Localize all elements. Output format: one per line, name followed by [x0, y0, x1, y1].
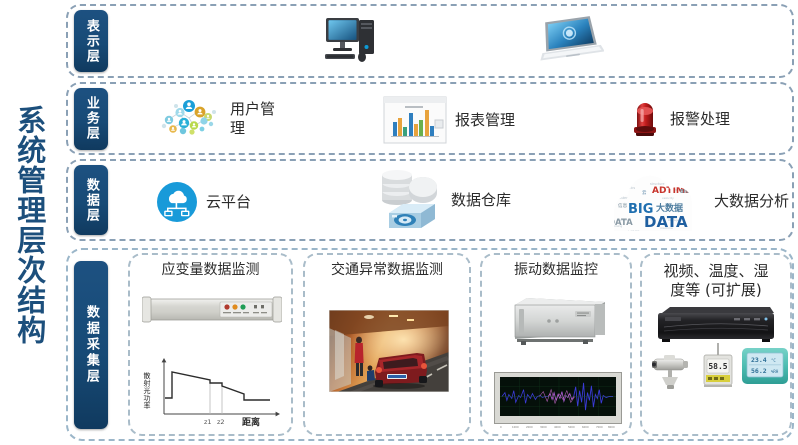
- svg-text:4000: 4000: [554, 425, 561, 429]
- svg-text:DATA: DATA: [608, 218, 633, 228]
- humidity-display-icon: 23.4 °C 56.2 %RH: [740, 345, 790, 387]
- svg-text:cluster: cluster: [616, 196, 628, 200]
- svg-text:DATA: DATA: [644, 213, 688, 231]
- svg-text:56.2: 56.2: [751, 367, 767, 375]
- svg-text:%RH: %RH: [771, 369, 779, 374]
- data-item-big-data-analysis[interactable]: analytics structure volume cluster veloc…: [598, 163, 789, 239]
- acquisition-card-vibration-title: 振动数据监控: [482, 262, 630, 280]
- layer-tag-data-label: 数据层: [83, 178, 99, 223]
- acquisition-card-strain[interactable]: 应变量数据监测: [128, 253, 293, 436]
- svg-text:7000: 7000: [596, 425, 603, 429]
- chart-xtick-z2: z2: [217, 418, 225, 426]
- layer-business: 业务层: [66, 82, 794, 155]
- svg-text:5000: 5000: [568, 425, 575, 429]
- acquisition-card-video-env[interactable]: 视频、温度、湿度等 (可扩展): [640, 253, 792, 436]
- vibration-waveform-display: [494, 372, 622, 424]
- layer-tag-presentation: 表示层: [74, 10, 108, 72]
- layer-tag-business: 业务层: [74, 88, 108, 150]
- layer-tag-data: 数据层: [74, 165, 108, 235]
- svg-text:°C: °C: [771, 358, 776, 363]
- scattered-light-power-chart: 散射光功率 z1 z2 距离: [138, 356, 288, 428]
- dvr-recorder-icon: [656, 305, 776, 345]
- cctv-camera-icon: [650, 351, 694, 391]
- laptop-computer-icon: [538, 14, 604, 68]
- cloud-platform-icon: [156, 181, 198, 223]
- svg-text:实时计算: 实时计算: [648, 231, 668, 238]
- svg-text:23.4: 23.4: [751, 356, 767, 364]
- layer-tag-business-label: 业务层: [83, 96, 99, 141]
- data-item-data-warehouse-label: 数据仓库: [451, 191, 511, 210]
- data-items: 云平台: [108, 161, 792, 239]
- layer-tag-acquisition-label: 数据采集层: [83, 305, 99, 385]
- desktop-computer-icon: [323, 14, 385, 68]
- layer-tag-acquisition: 数据采集层: [74, 261, 108, 429]
- alarm-beacon-icon: [628, 96, 662, 142]
- chart-ylabel: 散射光功率: [143, 371, 151, 410]
- system-architecture-diagram: 系统管理层次结构 表示层: [0, 0, 798, 445]
- layer-presentation: 表示层: [66, 4, 794, 78]
- vibration-acquisition-unit-icon: [505, 295, 609, 345]
- svg-text:velocity: velocity: [662, 196, 674, 200]
- svg-text:1000: 1000: [512, 425, 519, 429]
- business-item-user-management[interactable]: 用户管理: [156, 98, 275, 140]
- acquisition-card-traffic-title: 交通异常数据监测: [305, 262, 469, 280]
- svg-text:信息: 信息: [618, 202, 628, 209]
- temperature-sensor-icon: 58.5: [698, 341, 738, 391]
- svg-text:8000: 8000: [608, 425, 615, 429]
- data-item-big-data-analysis-label: 大数据分析: [714, 192, 789, 211]
- waveform-axis-labels: 010002000 300040005000 600070008000: [494, 423, 622, 430]
- business-item-report-management-label: 报表管理: [455, 111, 515, 130]
- chart-xlabel: 距离: [242, 416, 260, 428]
- tunnel-incident-photo: [329, 310, 449, 392]
- svg-text:6000: 6000: [582, 425, 589, 429]
- diagram-vertical-title-text: 系统管理层次结构: [14, 105, 44, 345]
- diagram-vertical-title: 系统管理层次结构: [2, 40, 56, 410]
- svg-text:BIG: BIG: [680, 189, 690, 195]
- rack-mount-analyzer-icon: [142, 291, 282, 329]
- data-item-cloud-platform[interactable]: 云平台: [156, 181, 251, 223]
- svg-text:58.5: 58.5: [708, 362, 727, 371]
- chart-xtick-z1: z1: [204, 418, 212, 426]
- business-item-user-management-label: 用户管理: [230, 100, 275, 138]
- presentation-item-laptop: [538, 14, 604, 68]
- svg-text:云: 云: [642, 190, 647, 196]
- svg-text:0: 0: [500, 425, 502, 429]
- svg-text:3000: 3000: [540, 425, 547, 429]
- bar-chart-report-icon: [383, 96, 447, 144]
- business-item-alarm-handling-label: 报警处理: [670, 110, 730, 129]
- business-item-alarm-handling[interactable]: 报警处理: [628, 96, 730, 142]
- acquisition-card-video-env-title: 视频、温度、湿度等 (可扩展): [642, 262, 790, 300]
- database-warehouse-icon: [373, 165, 443, 235]
- presentation-item-desktop: [323, 14, 385, 68]
- user-network-icon: [156, 98, 222, 140]
- svg-text:2000: 2000: [526, 425, 533, 429]
- acquisition-card-strain-title: 应变量数据监测: [130, 262, 291, 280]
- acquisition-card-traffic[interactable]: 交通异常数据监测: [303, 253, 471, 436]
- layer-tag-presentation-label: 表示层: [83, 19, 99, 64]
- svg-text:LARGE: LARGE: [628, 230, 639, 234]
- data-item-data-warehouse[interactable]: 数据仓库: [373, 165, 511, 235]
- svg-text:analytics: analytics: [620, 186, 635, 190]
- big-data-wordcloud-icon: analytics structure volume cluster veloc…: [598, 163, 706, 239]
- data-item-cloud-platform-label: 云平台: [206, 193, 251, 212]
- business-item-report-management[interactable]: 报表管理: [383, 96, 515, 144]
- business-items: 用户管理: [108, 84, 792, 153]
- acquisition-card-vibration[interactable]: 振动数据监控: [480, 253, 632, 436]
- presentation-items: [108, 6, 792, 76]
- layer-data: 数据层 云: [66, 159, 794, 241]
